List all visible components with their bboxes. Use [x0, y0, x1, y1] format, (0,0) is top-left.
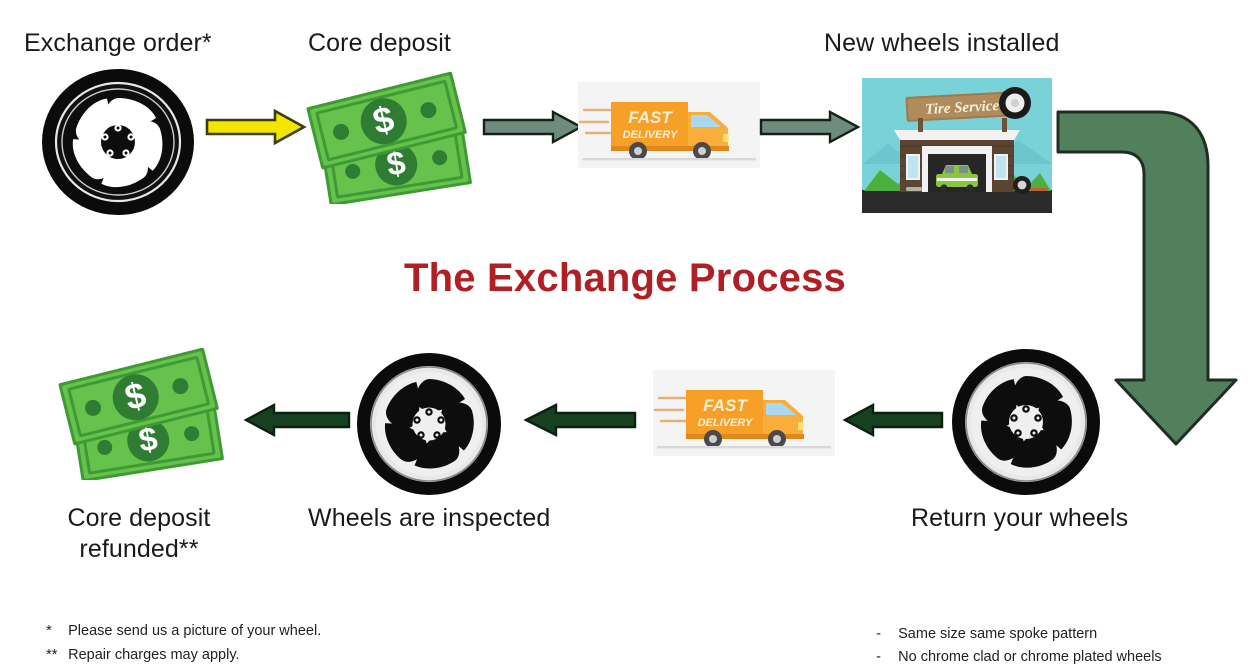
footnote-marker: **: [46, 643, 68, 666]
arrow-yellow: [205, 108, 307, 146]
arrow-gray-green: [760, 110, 860, 144]
footnote-right-2: -No chrome clad or chrome plated wheels: [860, 621, 1162, 666]
arrow-dark-green: [843, 403, 943, 437]
tire-service-shop-icon: Tire Service: [862, 78, 1052, 213]
infographic-canvas: The Exchange Process Exchange order* Cor…: [0, 0, 1250, 666]
delivery-truck-icon: FAST DELIVERY: [578, 82, 760, 168]
label-exchange-order: Exchange order*: [24, 28, 212, 59]
svg-text:DELIVERY: DELIVERY: [698, 417, 754, 429]
arrow-dark-green: [244, 403, 350, 437]
footnote-text: No chrome clad or chrome plated wheels: [898, 649, 1162, 665]
label-core-deposit: Core deposit: [308, 28, 451, 59]
money-icon: $ $: [52, 348, 234, 480]
label-return-your-wheels: Return your wheels: [911, 503, 1128, 534]
money-icon: $ $: [300, 72, 482, 204]
footnote-left-2: **Repair charges may apply.: [30, 619, 240, 666]
label-core-deposit-refunded: Core deposit refunded**: [30, 503, 248, 565]
footnote-marker: -: [876, 645, 898, 666]
wheel-icon: [40, 68, 196, 216]
delivery-truck-icon: FAST DELIVERY: [653, 370, 835, 456]
svg-text:FAST: FAST: [628, 108, 673, 127]
footnote-text: Repair charges may apply.: [68, 647, 239, 663]
wheel-icon: [355, 352, 503, 496]
label-wheels-are-inspected: Wheels are inspected: [308, 503, 550, 534]
label-new-wheels-installed: New wheels installed: [824, 28, 1059, 59]
arrow-gray-green: [483, 110, 583, 144]
svg-text:DELIVERY: DELIVERY: [623, 129, 679, 141]
arrow-dark-green: [524, 403, 636, 437]
wheel-icon: [950, 348, 1102, 496]
svg-text:FAST: FAST: [703, 396, 748, 415]
